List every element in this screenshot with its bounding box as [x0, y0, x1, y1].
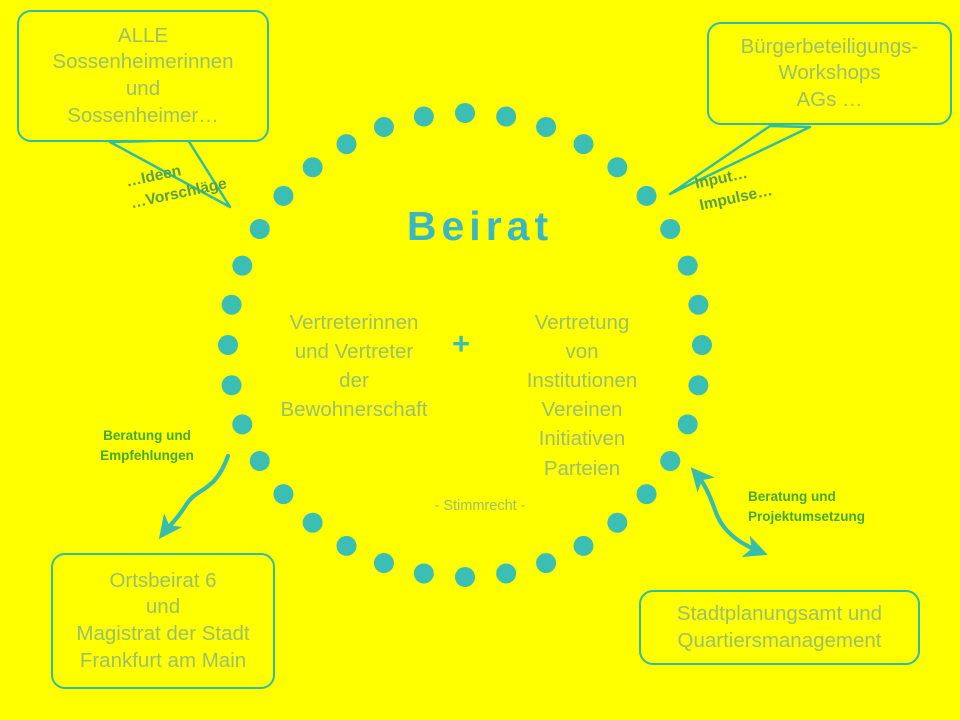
ring-dot	[496, 107, 516, 127]
diagram-canvas: ALLE Sossenheimerinnen und Sossenheimer……	[0, 0, 960, 720]
ring-dot	[688, 295, 708, 315]
box-ortsbeirat-text: Ortsbeirat 6 und Magistrat der Stadt Fra…	[53, 568, 273, 675]
ring-dot	[637, 484, 657, 504]
bubble-residents-text: ALLE Sossenheimerinnen und Sossenheimer…	[19, 23, 267, 130]
label-beratung-projektumsetzung: Beratung und Projektumsetzung	[748, 487, 913, 526]
ring-dot	[303, 157, 323, 177]
ring-dot	[496, 563, 516, 583]
ring-dot	[414, 563, 434, 583]
box-stadtplanung[interactable]: Stadtplanungsamt und Quartiersmanagement	[639, 590, 920, 665]
ring-dot	[574, 536, 594, 556]
ring-dot	[337, 536, 357, 556]
ring-dot	[218, 335, 238, 355]
ring-dot	[678, 414, 698, 434]
ring-dot	[273, 484, 293, 504]
bubble-workshops-text: Bürgerbeteiligungs- Workshops AGs …	[709, 34, 950, 114]
ring-dot	[232, 256, 252, 276]
ring-dot	[692, 335, 712, 355]
ring-dot	[232, 414, 252, 434]
ring-dot	[455, 103, 475, 123]
ring-dot	[688, 375, 708, 395]
ring-dot	[536, 553, 556, 573]
bubble-workshops[interactable]: Bürgerbeteiligungs- Workshops AGs …	[707, 22, 952, 125]
title-beirat: Beirat	[280, 203, 680, 250]
ring-dot	[455, 567, 475, 587]
label-ideen-vorschlaege: …Ideen …Vorschläge	[124, 152, 229, 216]
column-bewohnerschaft: Vertreterinnen und Vertreter der Bewohne…	[264, 308, 444, 424]
box-ortsbeirat[interactable]: Ortsbeirat 6 und Magistrat der Stadt Fra…	[51, 553, 275, 689]
plus-icon: +	[441, 326, 481, 362]
ring-dot	[607, 513, 627, 533]
ring-dot	[250, 451, 270, 471]
ring-dot	[536, 117, 556, 137]
label-beratung-empfehlungen: Beratung und Empfehlungen	[77, 426, 217, 465]
ring-dot	[250, 219, 270, 239]
box-stadtplanung-text: Stadtplanungsamt und Quartiersmanagement	[641, 601, 918, 654]
ring-dot	[337, 134, 357, 154]
ring-dot	[414, 107, 434, 127]
ring-dot	[374, 553, 394, 573]
ring-dot	[303, 513, 323, 533]
footnote-stimmrecht: - Stimmrecht -	[350, 498, 610, 514]
arrow-beratung-empfehlungen	[162, 456, 228, 535]
ring-dot	[222, 295, 242, 315]
ring-dot	[607, 157, 627, 177]
column-institutionen: Vertretung von Institutionen Vereinen In…	[492, 308, 672, 483]
ring-dot	[678, 256, 698, 276]
ring-dot	[374, 117, 394, 137]
label-input-impulse: Input… Impulse…	[693, 159, 775, 218]
ring-dot	[222, 375, 242, 395]
ring-dot	[574, 134, 594, 154]
bubble-residents[interactable]: ALLE Sossenheimerinnen und Sossenheimer…	[17, 10, 269, 142]
